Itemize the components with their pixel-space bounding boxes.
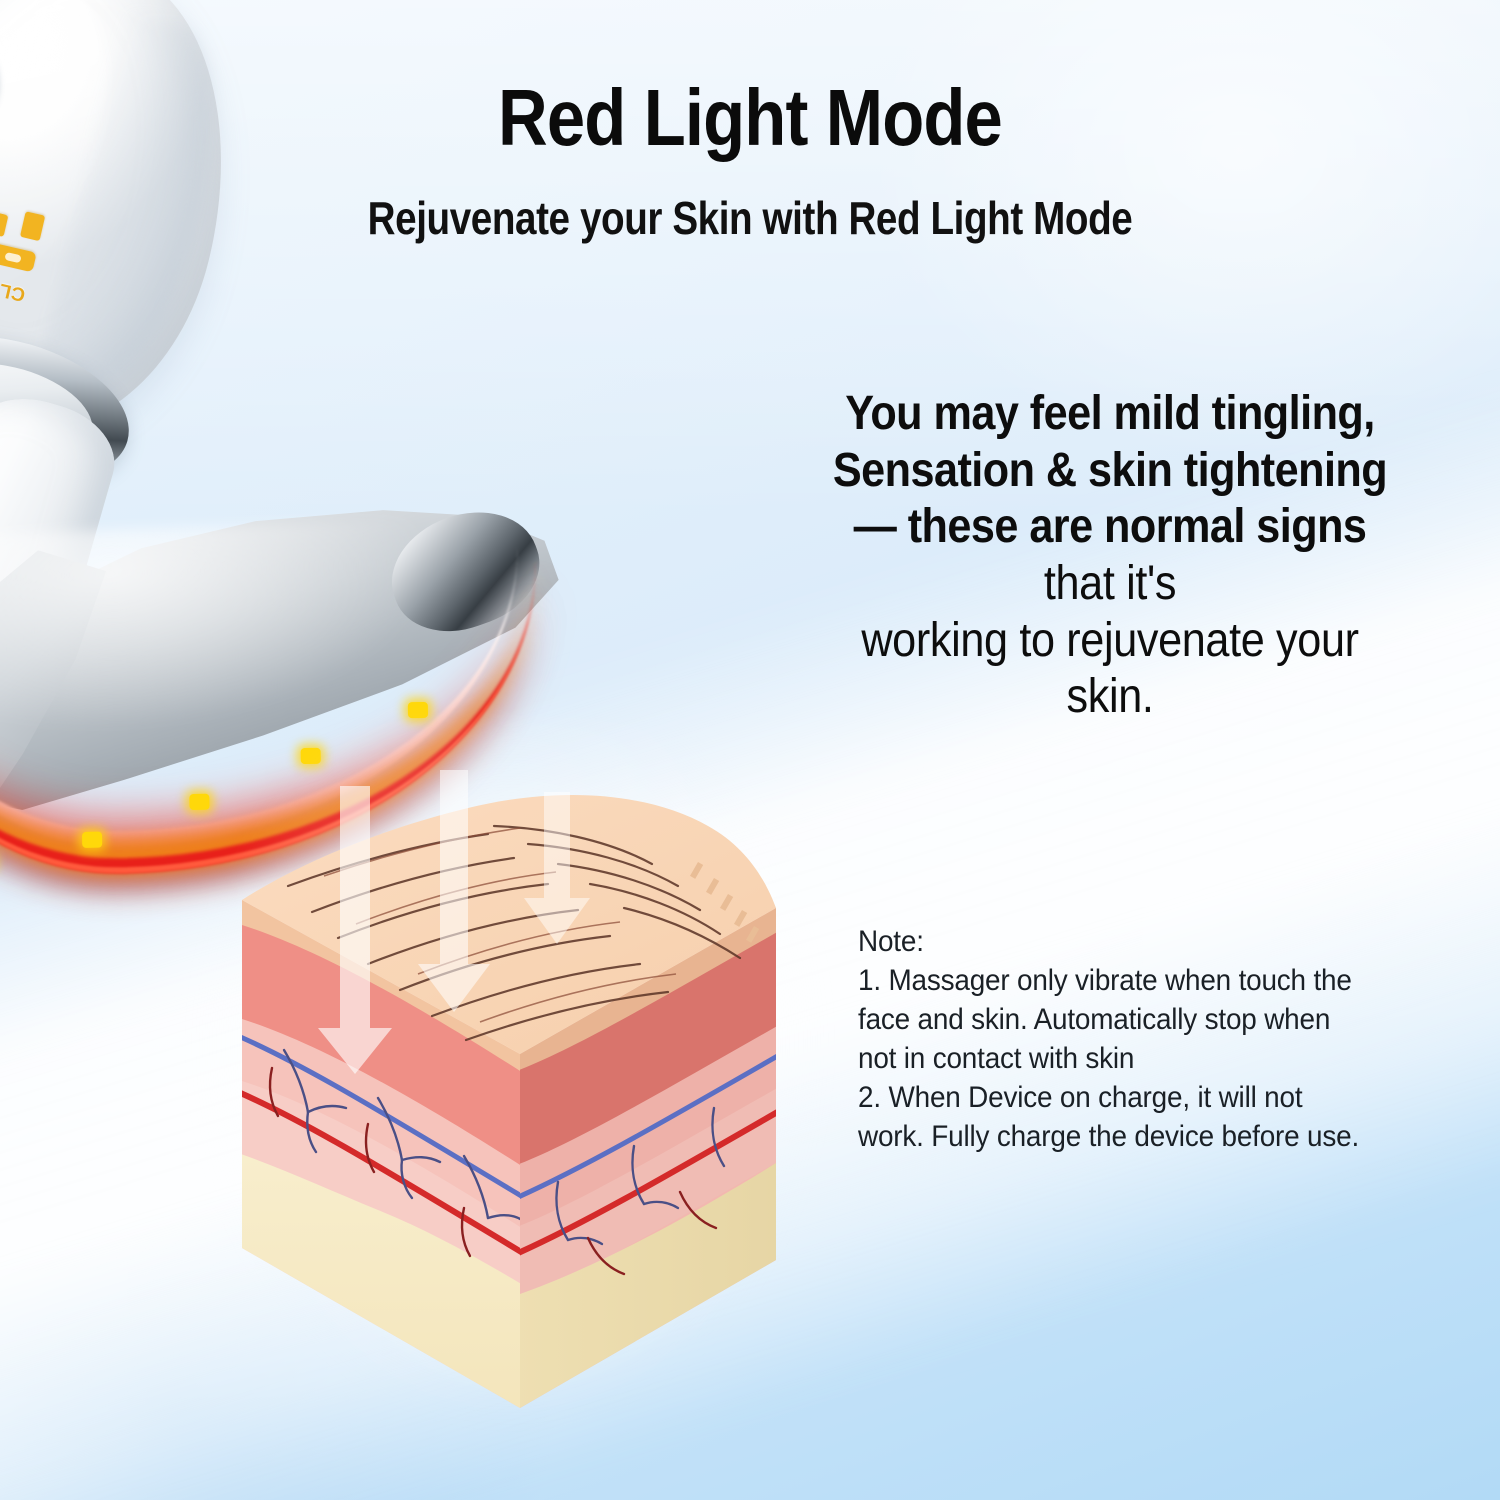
indicator-clean-icon	[0, 243, 37, 272]
led-node-1	[408, 702, 428, 718]
label-clean: CLEAN	[0, 268, 28, 305]
page-title: Red Light Mode	[105, 78, 1395, 158]
led-node-4	[82, 832, 102, 848]
body-line-3: — these are normal signs	[795, 499, 1425, 556]
body-line-1: You may feel mild tingling,	[795, 386, 1425, 443]
body-line-2: Sensation & skin tightening	[795, 443, 1425, 500]
body-copy: You may feel mild tingling, Sensation & …	[760, 386, 1460, 726]
note-block: Note: 1. Massager only vibrate when touc…	[858, 922, 1418, 1156]
body-line-6: skin.	[795, 669, 1425, 726]
body-line-5: working to rejuvenate your	[795, 613, 1425, 670]
note-line-2: face and skin. Automatically stop when	[858, 1000, 1379, 1039]
promo-image-canvas: CLEAN LED LEV	[0, 0, 1500, 1500]
indicator-bar-2	[0, 211, 8, 237]
note-line-3: not in contact with skin	[858, 1039, 1379, 1078]
note-heading: Note:	[858, 922, 1379, 961]
skin-cross-section	[228, 768, 788, 1418]
body-line-4: that it's	[795, 556, 1425, 613]
indicator-bar-1	[20, 211, 45, 241]
note-line-1: 1. Massager only vibrate when touch the	[858, 961, 1379, 1000]
note-line-4: 2. When Device on charge, it will not	[858, 1078, 1379, 1117]
note-line-5: work. Fully charge the device before use…	[858, 1117, 1379, 1156]
page-subtitle: Rejuvenate your Skin with Red Light Mode	[120, 192, 1380, 245]
